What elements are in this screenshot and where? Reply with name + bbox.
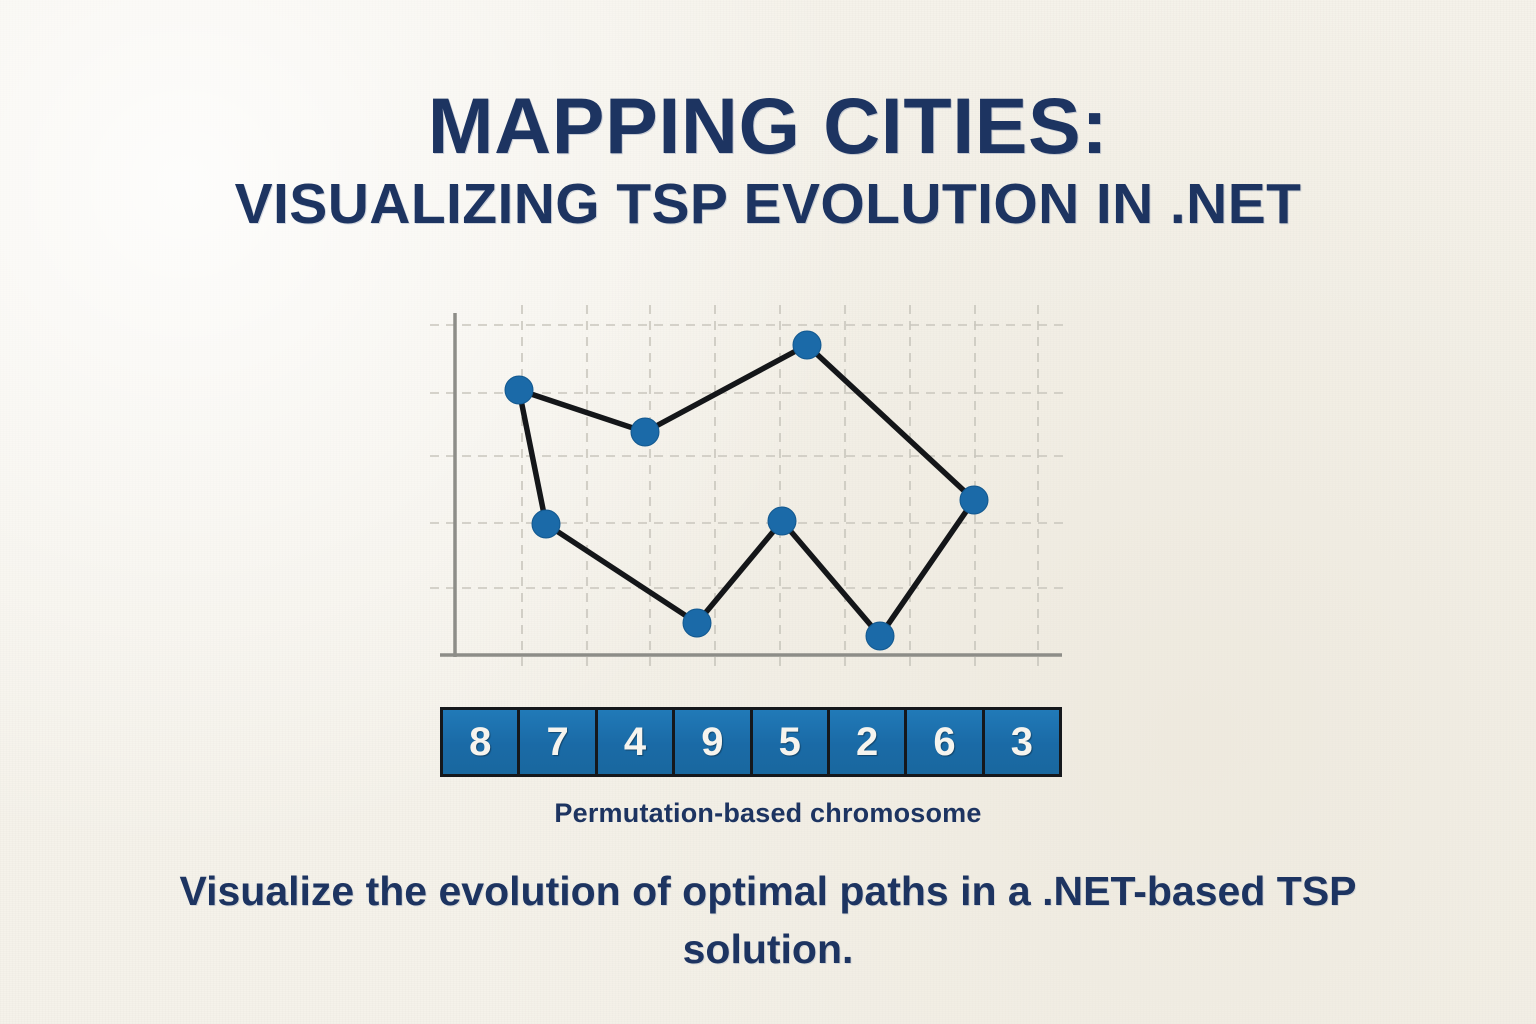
gene-value: 2: [856, 722, 878, 762]
city-node[interactable]: [960, 486, 988, 514]
page-title-line1: MAPPING CITIES:: [0, 86, 1536, 167]
gene-value: 5: [779, 722, 801, 762]
slide-stage: MAPPING CITIES: VISUALIZING TSP EVOLUTIO…: [0, 0, 1536, 1024]
tsp-tour-svg: [430, 305, 1080, 670]
gene-value: 7: [546, 722, 568, 762]
city-node[interactable]: [683, 609, 711, 637]
chromosome-caption: Permutation-based chromosome: [0, 798, 1536, 829]
gene-cell[interactable]: 4: [598, 710, 675, 774]
city-node[interactable]: [532, 510, 560, 538]
gene-value: 4: [624, 722, 646, 762]
tour-edge: [546, 524, 697, 623]
tsp-tour-chart: [430, 305, 1080, 670]
gene-cell[interactable]: 5: [753, 710, 830, 774]
tour-edge: [645, 345, 807, 432]
gene-cell[interactable]: 2: [830, 710, 907, 774]
gene-value: 6: [933, 722, 955, 762]
tour-edge: [782, 521, 880, 636]
city-node[interactable]: [866, 622, 894, 650]
gene-cell[interactable]: 3: [985, 710, 1059, 774]
gene-value: 9: [701, 722, 723, 762]
title-block: MAPPING CITIES: VISUALIZING TSP EVOLUTIO…: [0, 86, 1536, 234]
tour-edge: [519, 390, 645, 432]
gene-cell[interactable]: 6: [907, 710, 984, 774]
gene-cell[interactable]: 7: [520, 710, 597, 774]
gene-value: 3: [1011, 722, 1033, 762]
chromosome-strip[interactable]: 87495263: [440, 707, 1062, 777]
city-node[interactable]: [631, 418, 659, 446]
city-node[interactable]: [793, 331, 821, 359]
city-node[interactable]: [768, 507, 796, 535]
city-node[interactable]: [505, 376, 533, 404]
tour-edge: [807, 345, 974, 500]
page-title-line2: VISUALIZING TSP EVOLUTION IN .NET: [0, 175, 1536, 235]
tour-edge: [697, 521, 782, 623]
subtitle-text: Visualize the evolution of optimal paths…: [168, 862, 1368, 978]
gene-value: 8: [469, 722, 491, 762]
tour-edge: [519, 390, 546, 524]
tour-edge: [880, 500, 974, 636]
gene-cell[interactable]: 9: [675, 710, 752, 774]
gene-cell[interactable]: 8: [443, 710, 520, 774]
